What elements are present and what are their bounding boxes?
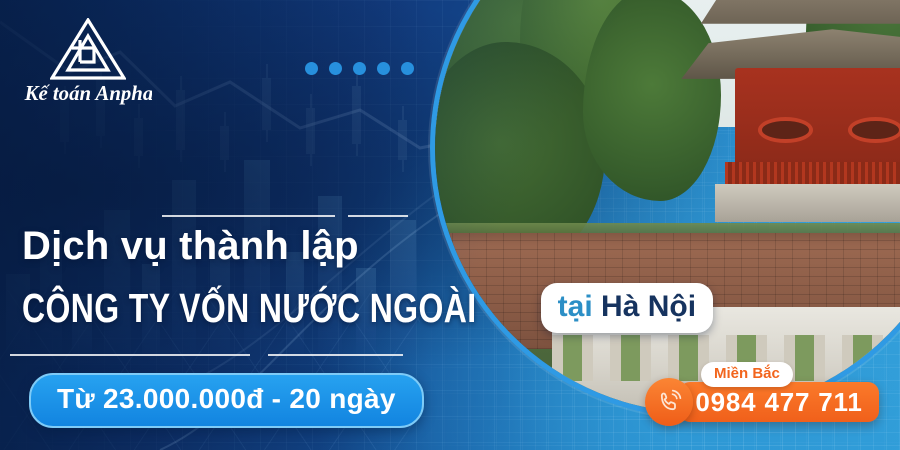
decor-dot	[353, 62, 366, 75]
headline-line-1: Dịch vụ thành lập	[22, 226, 452, 266]
brand-logo[interactable]: Kế toán Anpha	[22, 18, 152, 108]
city-badge: tại Hà Nội	[541, 283, 713, 333]
phone-ringing-icon	[655, 388, 683, 416]
decor-rule-bottom-right	[268, 354, 403, 356]
anpha-triangle-logo-icon	[50, 18, 126, 80]
brand-logo-text: Kế toán Anpha	[22, 76, 152, 108]
phone-region-badge: Miền Bắc	[701, 362, 793, 387]
temple-of-literature-hanoi-photo	[430, 0, 900, 418]
price-badge: Từ 23.000.000đ - 20 ngày	[29, 373, 424, 428]
decor-dot	[401, 62, 414, 75]
decor-rule-bottom-left	[10, 354, 250, 356]
decor-dot	[377, 62, 390, 75]
brand-logo-wordmark: Kế toán Anpha	[24, 82, 152, 105]
city-badge-prefix: tại	[558, 290, 601, 323]
city-badge-name: Hà Nội	[601, 290, 696, 323]
phone-number[interactable]: 0984 477 711	[679, 382, 879, 422]
headline-block: Dịch vụ thành lập	[22, 226, 452, 266]
headline-line-2: CÔNG TY VỐN NƯỚC NGOÀI	[22, 288, 476, 329]
phone-contact-widget[interactable]: 0984 477 711 Miền Bắc	[645, 362, 885, 422]
decor-dots	[305, 62, 414, 75]
promo-banner: Kế toán Anpha Dịch vụ thành lập CÔNG TY …	[0, 0, 900, 450]
decor-dot	[329, 62, 342, 75]
decor-rule-top-right	[348, 215, 408, 217]
decor-dot	[305, 62, 318, 75]
phone-icon-circle[interactable]	[645, 378, 693, 426]
decor-rule-top-left	[162, 215, 335, 217]
headline-row-2: CÔNG TY VỐN NƯỚC NGOÀI tại Hà Nội	[22, 283, 713, 333]
phone-region-label: Miền Bắc	[714, 365, 780, 382]
phone-number-bar[interactable]: 0984 477 711	[679, 382, 879, 422]
price-badge-label: Từ 23.000.000đ - 20 ngày	[57, 383, 396, 414]
